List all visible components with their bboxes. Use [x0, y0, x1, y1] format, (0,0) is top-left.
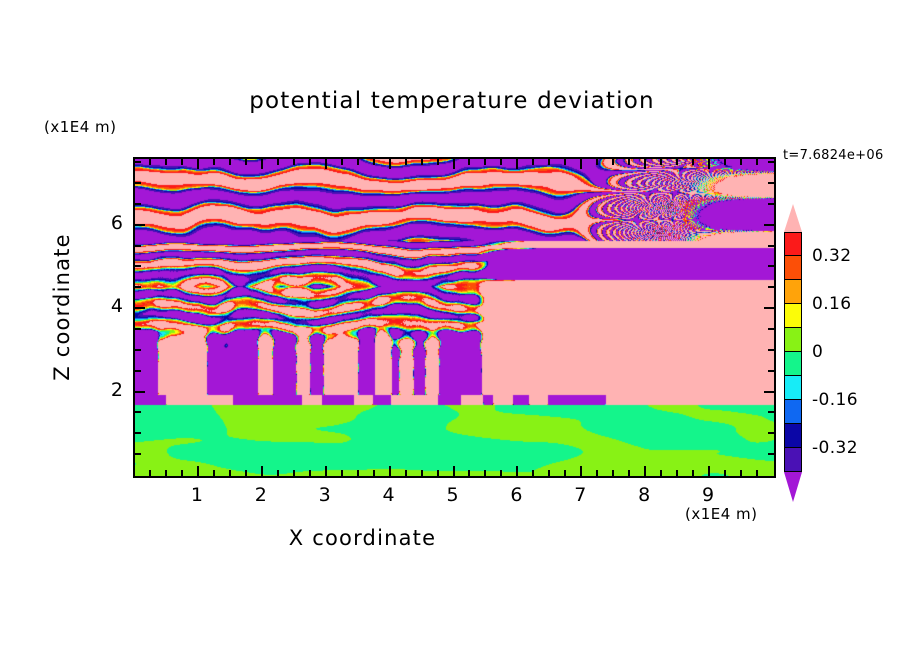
x-tick: [516, 466, 518, 476]
colorbar-label: -0.16: [812, 390, 858, 410]
y-tick: [135, 245, 141, 247]
x-tick: [756, 470, 758, 476]
page-title: potential temperature deviation: [0, 88, 904, 114]
x-tick: [676, 159, 678, 165]
y-tick-label: 6: [83, 212, 123, 234]
y-tick: [135, 224, 145, 226]
x-tick: [484, 159, 486, 165]
x-tick: [692, 470, 694, 476]
colorbar-band-5: [784, 352, 802, 376]
colorbar-label: 0: [812, 342, 823, 362]
y-tick: [768, 182, 774, 184]
x-tick: [644, 466, 646, 476]
x-tick: [724, 470, 726, 476]
x-tick: [660, 470, 662, 476]
x-tick: [277, 470, 279, 476]
colorbar-band-9: [784, 448, 802, 472]
x-tick: [676, 470, 678, 476]
x-tick: [181, 159, 183, 165]
x-tick: [357, 159, 359, 165]
y-tick: [768, 203, 774, 205]
x-tick: [644, 159, 646, 169]
colorbar-band-1: [784, 256, 802, 280]
x-tick: [325, 466, 327, 476]
x-tick-label: 2: [241, 484, 281, 506]
y-tick: [768, 161, 774, 163]
y-tick: [768, 411, 774, 413]
x-tick-label: 4: [369, 484, 409, 506]
x-tick: [724, 159, 726, 165]
colorbar: [784, 232, 802, 472]
colorbar-label: 0.16: [812, 294, 851, 314]
colorbar-band-2: [784, 280, 802, 304]
y-tick: [135, 411, 141, 413]
x-tick: [740, 159, 742, 165]
x-tick: [197, 159, 199, 169]
x-tick: [564, 470, 566, 476]
y-tick: [768, 328, 774, 330]
y-tick: [135, 265, 141, 267]
x-tick: [437, 159, 439, 165]
y-tick: [135, 286, 141, 288]
x-tick: [453, 466, 455, 476]
y-tick: [764, 391, 774, 393]
y-tick: [768, 370, 774, 372]
y-tick: [135, 161, 141, 163]
x-tick: [389, 466, 391, 476]
y-tick: [768, 286, 774, 288]
x-tick: [245, 470, 247, 476]
x-tick: [213, 159, 215, 165]
x-tick-label: 8: [624, 484, 664, 506]
x-tick: [245, 159, 247, 165]
x-tick: [165, 470, 167, 476]
x-tick-label: 6: [496, 484, 536, 506]
y-tick: [764, 224, 774, 226]
x-tick: [756, 159, 758, 165]
x-tick: [628, 470, 630, 476]
x-tick: [692, 159, 694, 165]
y-tick: [768, 432, 774, 434]
x-tick: [532, 470, 534, 476]
y-tick: [135, 391, 145, 393]
x-tick: [213, 470, 215, 476]
colorbar-band-8: [784, 424, 802, 448]
contour-field: [135, 159, 774, 476]
x-tick: [229, 159, 231, 165]
x-tick: [197, 466, 199, 476]
x-tick: [293, 159, 295, 165]
colorbar-band-3: [784, 304, 802, 328]
y-tick-label: 4: [83, 295, 123, 317]
x-tick: [181, 470, 183, 476]
y-tick: [768, 453, 774, 455]
x-tick: [149, 470, 151, 476]
y-tick: [135, 453, 141, 455]
x-tick: [165, 159, 167, 165]
colorbar-band-7: [784, 400, 802, 424]
y-tick: [768, 349, 774, 351]
colorbar-label: 0.32: [812, 246, 851, 266]
x-tick-label: 3: [305, 484, 345, 506]
x-tick: [389, 159, 391, 169]
x-tick: [421, 159, 423, 165]
x-tick: [341, 159, 343, 165]
y-tick: [768, 245, 774, 247]
colorbar-cap-bottom: [784, 472, 802, 502]
x-tick: [277, 159, 279, 165]
x-axis-label: X coordinate: [0, 526, 725, 550]
y-tick: [768, 265, 774, 267]
x-tick: [516, 159, 518, 169]
x-tick: [500, 470, 502, 476]
x-tick: [612, 470, 614, 476]
y-tick: [764, 307, 774, 309]
x-tick: [373, 470, 375, 476]
z-axis-label: Z coordinate: [50, 212, 74, 402]
x-tick: [309, 159, 311, 165]
x-tick: [261, 466, 263, 476]
x-axis-unit-label: (x1E4 m): [685, 505, 758, 523]
x-tick: [309, 470, 311, 476]
x-tick: [628, 159, 630, 165]
x-tick: [532, 159, 534, 165]
x-tick: [325, 159, 327, 169]
x-tick: [437, 470, 439, 476]
x-tick: [708, 159, 710, 169]
y-tick: [135, 203, 141, 205]
y-tick: [135, 182, 141, 184]
y-tick: [135, 370, 141, 372]
x-tick: [580, 466, 582, 476]
z-axis-unit-label: (x1E4 m): [44, 118, 117, 136]
x-tick: [708, 466, 710, 476]
x-tick-label: 9: [688, 484, 728, 506]
x-tick: [612, 159, 614, 165]
x-tick: [500, 159, 502, 165]
x-tick: [293, 470, 295, 476]
y-tick: [135, 349, 141, 351]
time-annotation: t=7.6824e+06: [783, 148, 884, 163]
x-tick: [580, 159, 582, 169]
colorbar-band-0: [784, 232, 802, 256]
colorbar-band-6: [784, 376, 802, 400]
x-tick: [548, 470, 550, 476]
x-tick: [341, 470, 343, 476]
x-tick-label: 1: [177, 484, 217, 506]
x-tick: [261, 159, 263, 169]
x-tick: [468, 470, 470, 476]
colorbar-label: -0.32: [812, 438, 858, 458]
colorbar-band-4: [784, 328, 802, 352]
y-tick: [135, 328, 141, 330]
x-tick: [740, 470, 742, 476]
x-tick: [660, 159, 662, 165]
y-tick-label: 2: [83, 379, 123, 401]
x-tick: [405, 159, 407, 165]
x-tick: [564, 159, 566, 165]
x-tick: [149, 159, 151, 165]
x-tick: [548, 159, 550, 165]
x-tick: [229, 470, 231, 476]
x-tick: [596, 470, 598, 476]
x-tick: [468, 159, 470, 165]
x-tick-label: 7: [560, 484, 600, 506]
contour-plot-area: [133, 157, 776, 478]
colorbar-cap-top: [784, 204, 802, 232]
y-tick: [135, 307, 145, 309]
x-tick: [373, 159, 375, 165]
x-tick: [453, 159, 455, 169]
x-tick: [484, 470, 486, 476]
x-tick: [596, 159, 598, 165]
x-tick-label: 5: [433, 484, 473, 506]
x-tick: [405, 470, 407, 476]
x-tick: [357, 470, 359, 476]
y-tick: [135, 432, 141, 434]
x-tick: [421, 470, 423, 476]
